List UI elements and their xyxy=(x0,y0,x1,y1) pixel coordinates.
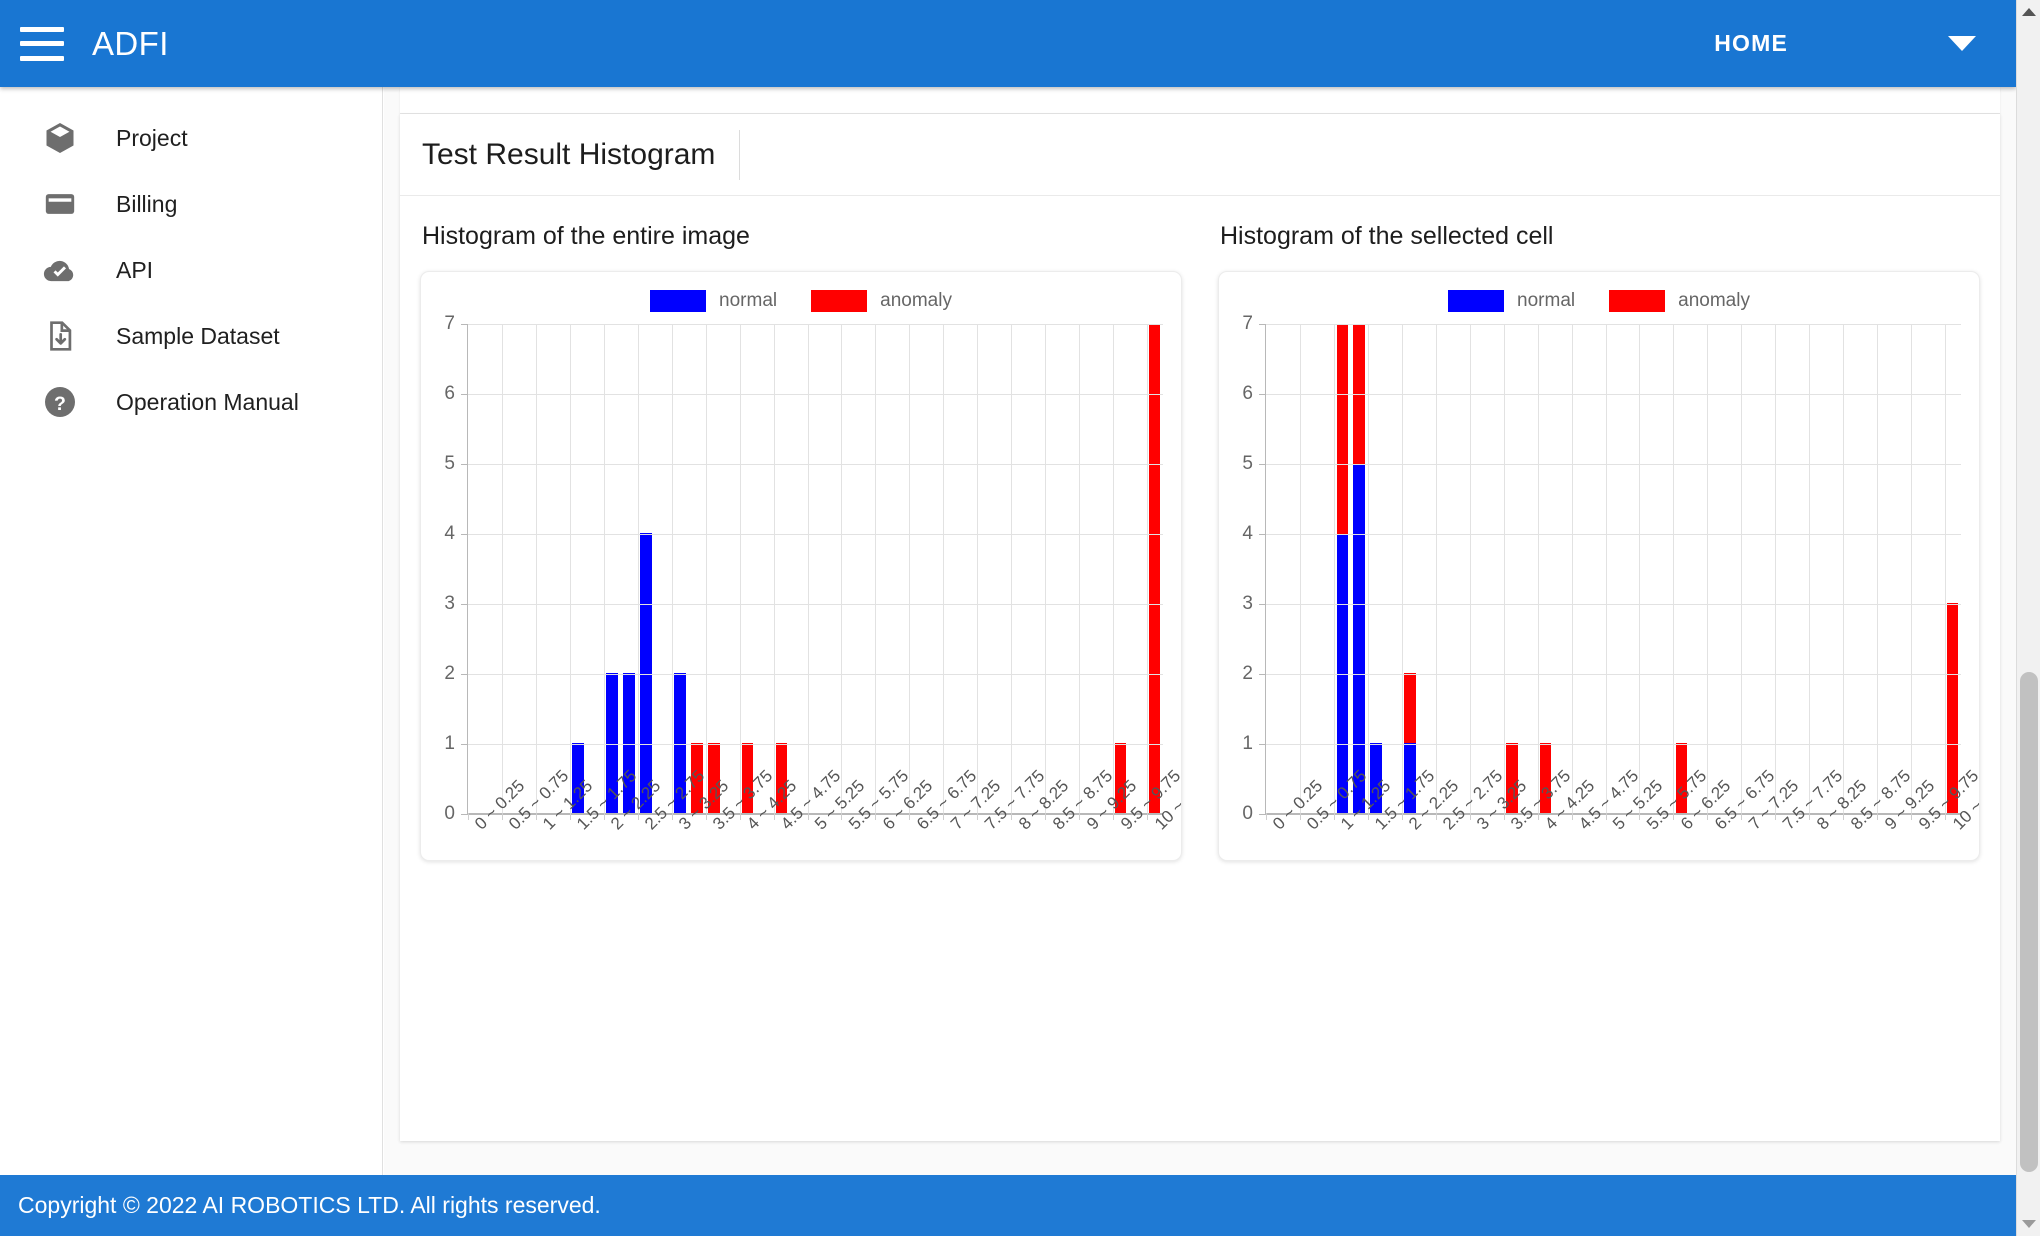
histogram-bin[interactable] xyxy=(1469,324,1486,813)
credit-card-icon xyxy=(38,182,82,226)
grid-line-vertical xyxy=(1741,324,1742,813)
histogram-bin[interactable] xyxy=(1656,324,1673,813)
y-axis-tick-label: 3 xyxy=(444,593,455,615)
grid-line-vertical xyxy=(1147,324,1148,813)
sidebar: Project Billing API Sample Datas xyxy=(0,87,383,1175)
app-header: ADFI HOME xyxy=(0,0,2016,87)
histogram-bin[interactable] xyxy=(705,324,722,813)
histogram-bin[interactable] xyxy=(688,324,705,813)
hamburger-bar xyxy=(20,41,64,46)
y-axis-tick xyxy=(461,394,468,395)
legend-swatch-normal xyxy=(1448,290,1504,312)
y-axis-tick-label: 3 xyxy=(1242,593,1253,615)
grid-line-horizontal xyxy=(1266,324,1961,325)
grid-line-vertical xyxy=(536,324,537,813)
histogram-selected-cell[interactable]: normal anomaly 01234567 0 ~ 0.250.5 ~ 0.… xyxy=(1218,271,1980,861)
y-axis-tick xyxy=(461,534,468,535)
histogram-bin[interactable] xyxy=(1741,324,1758,813)
histogram-bin[interactable] xyxy=(756,324,773,813)
grid-line-horizontal xyxy=(1266,394,1961,395)
grid-line-horizontal xyxy=(468,604,1163,605)
y-axis-tick xyxy=(1259,674,1266,675)
histogram-bin[interactable] xyxy=(1112,324,1129,813)
legend-item-anomaly[interactable]: anomaly xyxy=(1609,290,1750,312)
cube-icon xyxy=(38,116,82,160)
page-title: Test Result Histogram xyxy=(422,138,715,172)
y-axis-tick xyxy=(461,604,468,605)
legend-label-normal: normal xyxy=(719,290,777,312)
histogram-bin[interactable] xyxy=(604,324,621,813)
grid-line-vertical xyxy=(1538,324,1539,813)
histogram-bin[interactable] xyxy=(1300,324,1317,813)
grid-line-vertical xyxy=(1113,324,1114,813)
grid-line-vertical xyxy=(1639,324,1640,813)
grid-line-vertical xyxy=(909,324,910,813)
x-axis-labels: 0 ~ 0.250.5 ~ 0.751 ~ 1.251.5 ~ 1.752 ~ … xyxy=(1265,816,1961,906)
histogram-bin[interactable] xyxy=(1944,324,1961,813)
histogram-bin[interactable] xyxy=(1129,324,1146,813)
legend-item-normal[interactable]: normal xyxy=(650,290,777,312)
histogram-bin[interactable] xyxy=(1317,324,1334,813)
bar-segment-anomaly xyxy=(1404,673,1416,743)
grid-line-horizontal xyxy=(468,464,1163,465)
histogram-bin[interactable] xyxy=(638,324,655,813)
y-axis-tick-label: 2 xyxy=(444,663,455,685)
sidebar-item-project[interactable]: Project xyxy=(0,105,382,171)
grid-line-vertical xyxy=(1673,324,1674,813)
grid-line-vertical xyxy=(1809,324,1810,813)
grid-line-vertical xyxy=(1843,324,1844,813)
charts-row: Histogram of the entire image normal ano… xyxy=(400,196,2000,861)
bar-segment-anomaly xyxy=(1337,324,1349,534)
histogram-bin[interactable] xyxy=(739,324,756,813)
histogram-bin[interactable] xyxy=(468,324,485,813)
sidebar-item-label: Operation Manual xyxy=(116,389,299,416)
y-axis-tick xyxy=(1259,604,1266,605)
grid-line-horizontal xyxy=(1266,604,1961,605)
histogram-bin[interactable] xyxy=(1825,324,1842,813)
bar-segment-normal xyxy=(640,533,652,813)
grid-line-vertical xyxy=(1436,324,1437,813)
legend-swatch-anomaly xyxy=(1609,290,1665,312)
test-result-histogram-panel: Test Result Histogram Histogram of the e… xyxy=(400,114,2000,1141)
plot-grid xyxy=(1265,324,1961,814)
histogram-bin[interactable] xyxy=(943,324,960,813)
histogram-bin[interactable] xyxy=(1486,324,1503,813)
grid-line-vertical xyxy=(1504,324,1505,813)
grid-line-horizontal xyxy=(468,534,1163,535)
y-axis-tick xyxy=(1259,464,1266,465)
y-axis-tick-label: 1 xyxy=(444,733,455,755)
sidebar-item-billing[interactable]: Billing xyxy=(0,171,382,237)
app-brand-title: ADFI xyxy=(92,25,169,63)
histogram-bin[interactable] xyxy=(519,324,536,813)
grid-line-vertical xyxy=(875,324,876,813)
title-divider xyxy=(739,130,740,180)
grid-line-vertical xyxy=(1045,324,1046,813)
y-axis-tick xyxy=(461,674,468,675)
grid-line-vertical xyxy=(1300,324,1301,813)
histogram-bin[interactable] xyxy=(892,324,909,813)
panel-header: Test Result Histogram xyxy=(400,114,2000,196)
chart-block-selected-cell: Histogram of the sellected cell normal a… xyxy=(1218,222,1980,861)
triangle-up-icon xyxy=(2022,8,2036,16)
y-axis-tick-label: 7 xyxy=(444,313,455,335)
y-axis-tick xyxy=(461,744,468,745)
histogram-bin[interactable] xyxy=(1809,324,1826,813)
caret-down-icon[interactable] xyxy=(1948,36,1976,51)
sidebar-item-operation-manual[interactable]: ? Operation Manual xyxy=(0,369,382,435)
histogram-bin[interactable] xyxy=(1605,324,1622,813)
grid-line-horizontal xyxy=(1266,674,1961,675)
histogram-bin[interactable] xyxy=(1690,324,1707,813)
y-axis-tick-label: 2 xyxy=(1242,663,1253,685)
grid-line-vertical xyxy=(1606,324,1607,813)
chart-block-entire-image: Histogram of the entire image normal ano… xyxy=(420,222,1182,861)
histogram-bin[interactable] xyxy=(1503,324,1520,813)
y-axis-tick-label: 5 xyxy=(1242,453,1253,475)
histogram-bin[interactable] xyxy=(824,324,841,813)
grid-line-horizontal xyxy=(1266,464,1961,465)
chart-legend: normal anomaly xyxy=(421,272,1181,314)
histogram-bin[interactable] xyxy=(1588,324,1605,813)
sidebar-item-label: Project xyxy=(116,125,188,152)
bar-segment-normal xyxy=(1353,464,1365,813)
grid-line-horizontal xyxy=(1266,744,1961,745)
scroll-up-button[interactable] xyxy=(2017,0,2040,24)
legend-item-normal[interactable]: normal xyxy=(1448,290,1575,312)
histogram-bin[interactable] xyxy=(1859,324,1876,813)
y-axis-labels: 01234567 xyxy=(1219,324,1259,814)
histogram-bin[interactable] xyxy=(1639,324,1656,813)
histogram-bin[interactable] xyxy=(1385,324,1402,813)
histogram-bin[interactable] xyxy=(570,324,587,813)
histogram-bin[interactable] xyxy=(621,324,638,813)
bar-segment-anomaly xyxy=(1149,324,1161,813)
grid-line-horizontal xyxy=(468,674,1163,675)
grid-line-vertical xyxy=(502,324,503,813)
grid-line-vertical xyxy=(977,324,978,813)
grid-line-vertical xyxy=(943,324,944,813)
histogram-bin[interactable] xyxy=(960,324,977,813)
histogram-bin[interactable] xyxy=(841,324,858,813)
histogram-bin[interactable] xyxy=(1452,324,1469,813)
histogram-bin[interactable] xyxy=(1842,324,1859,813)
grid-line-vertical xyxy=(1707,324,1708,813)
hamburger-menu-icon[interactable] xyxy=(20,27,64,61)
histogram-bin[interactable] xyxy=(977,324,994,813)
histogram-bin[interactable] xyxy=(485,324,502,813)
histogram-bin[interactable] xyxy=(1419,324,1436,813)
grid-line-vertical xyxy=(1079,324,1080,813)
histogram-bin[interactable] xyxy=(1061,324,1078,813)
help-circle-icon: ? xyxy=(38,380,82,424)
legend-label-normal: normal xyxy=(1517,290,1575,312)
y-axis-tick xyxy=(461,814,468,815)
y-axis-tick-label: 6 xyxy=(444,383,455,405)
sidebar-item-api[interactable]: API xyxy=(0,237,382,303)
grid-line-vertical xyxy=(808,324,809,813)
y-axis-tick xyxy=(1259,814,1266,815)
y-axis-tick-label: 6 xyxy=(1242,383,1253,405)
histogram-bin[interactable] xyxy=(790,324,807,813)
histogram-bin[interactable] xyxy=(1027,324,1044,813)
legend-label-anomaly: anomaly xyxy=(880,290,952,312)
file-download-icon xyxy=(38,314,82,358)
grid-line-vertical xyxy=(740,324,741,813)
previous-card-bottom-edge xyxy=(400,87,2000,114)
y-axis-tick-label: 4 xyxy=(1242,523,1253,545)
histogram-bin[interactable] xyxy=(1402,324,1419,813)
page-scrollbar[interactable] xyxy=(2016,0,2040,1236)
chart-caption: Histogram of the entire image xyxy=(420,222,1182,251)
triangle-down-icon xyxy=(2022,1220,2036,1228)
bar-series xyxy=(1266,324,1961,813)
legend-swatch-normal xyxy=(650,290,706,312)
histogram-bin[interactable] xyxy=(1146,324,1163,813)
svg-text:?: ? xyxy=(54,393,66,415)
main-content: Test Result Histogram Histogram of the e… xyxy=(384,87,2016,1175)
y-axis-tick-label: 0 xyxy=(444,803,455,825)
histogram-bin[interactable] xyxy=(1266,324,1283,813)
histogram-bin[interactable] xyxy=(502,324,519,813)
grid-line-vertical xyxy=(1368,324,1369,813)
histogram-bin[interactable] xyxy=(1792,324,1809,813)
x-axis-labels: 0 ~ 0.250.5 ~ 0.751 ~ 1.251.5 ~ 1.752 ~ … xyxy=(467,816,1163,906)
legend-swatch-anomaly xyxy=(811,290,867,312)
y-axis-tick-label: 0 xyxy=(1242,803,1253,825)
y-axis-tick xyxy=(1259,744,1266,745)
histogram-bin[interactable] xyxy=(1044,324,1061,813)
hamburger-bar xyxy=(20,27,64,32)
histogram-bin[interactable] xyxy=(1571,324,1588,813)
sidebar-item-label: API xyxy=(116,257,153,284)
grid-line-vertical xyxy=(604,324,605,813)
grid-line-horizontal xyxy=(468,394,1163,395)
histogram-bin[interactable] xyxy=(1436,324,1453,813)
scrollbar-thumb[interactable] xyxy=(2020,672,2038,1172)
y-axis-tick xyxy=(1259,534,1266,535)
bar-series xyxy=(468,324,1163,813)
sidebar-item-sample-dataset[interactable]: Sample Dataset xyxy=(0,303,382,369)
grid-line-vertical xyxy=(841,324,842,813)
y-axis-tick-label: 4 xyxy=(444,523,455,545)
grid-line-vertical xyxy=(1877,324,1878,813)
histogram-bin[interactable] xyxy=(671,324,688,813)
histogram-bin[interactable] xyxy=(1520,324,1537,813)
grid-line-horizontal xyxy=(1266,534,1961,535)
grid-line-vertical xyxy=(1011,324,1012,813)
histogram-bin[interactable] xyxy=(1910,324,1927,813)
histogram-bin[interactable] xyxy=(654,324,671,813)
y-axis-tick-label: 5 xyxy=(444,453,455,475)
grid-line-vertical xyxy=(1945,324,1946,813)
chart-caption: Histogram of the sellected cell xyxy=(1218,222,1980,251)
histogram-bin[interactable] xyxy=(1673,324,1690,813)
grid-line-vertical xyxy=(672,324,673,813)
grid-line-vertical xyxy=(1402,324,1403,813)
histogram-bin[interactable] xyxy=(1622,324,1639,813)
histogram-bin[interactable] xyxy=(994,324,1011,813)
histogram-bin[interactable] xyxy=(1724,324,1741,813)
histogram-bin[interactable] xyxy=(1368,324,1385,813)
y-axis-tick xyxy=(461,324,468,325)
chart-legend: normal anomaly xyxy=(1219,272,1979,314)
histogram-bin[interactable] xyxy=(536,324,553,813)
copyright-text: Copyright © 2022 AI ROBOTICS LTD. All ri… xyxy=(18,1192,601,1219)
histogram-bin[interactable] xyxy=(1537,324,1554,813)
histogram-bin[interactable] xyxy=(858,324,875,813)
y-axis-labels: 01234567 xyxy=(421,324,461,814)
grid-line-vertical xyxy=(1470,324,1471,813)
page-footer: Copyright © 2022 AI ROBOTICS LTD. All ri… xyxy=(0,1175,2016,1236)
hamburger-bar xyxy=(20,56,64,61)
grid-line-vertical xyxy=(570,324,571,813)
grid-line-vertical xyxy=(706,324,707,813)
histogram-bin[interactable] xyxy=(909,324,926,813)
plot-area: 01234567 0 ~ 0.250.5 ~ 0.751 ~ 1.251.5 ~… xyxy=(1219,314,1979,862)
histogram-bin[interactable] xyxy=(553,324,570,813)
histogram-bin[interactable] xyxy=(1283,324,1300,813)
histogram-bin[interactable] xyxy=(1554,324,1571,813)
home-nav-link[interactable]: HOME xyxy=(1714,30,1788,57)
y-axis-tick xyxy=(1259,324,1266,325)
plot-area: 01234567 0 ~ 0.250.5 ~ 0.751 ~ 1.251.5 ~… xyxy=(421,314,1181,862)
y-axis-tick-label: 7 xyxy=(1242,313,1253,335)
y-axis-tick xyxy=(1259,394,1266,395)
legend-item-anomaly[interactable]: anomaly xyxy=(811,290,952,312)
histogram-bin[interactable] xyxy=(1893,324,1910,813)
histogram-bin[interactable] xyxy=(1095,324,1112,813)
plot-grid xyxy=(467,324,1163,814)
sidebar-item-label: Billing xyxy=(116,191,177,218)
histogram-bin[interactable] xyxy=(1758,324,1775,813)
histogram-bin[interactable] xyxy=(773,324,790,813)
histogram-bin[interactable] xyxy=(1011,324,1028,813)
histogram-bin[interactable] xyxy=(587,324,604,813)
scroll-down-button[interactable] xyxy=(2017,1212,2040,1236)
histogram-bin[interactable] xyxy=(1078,324,1095,813)
y-axis-tick xyxy=(461,464,468,465)
histogram-bin[interactable] xyxy=(926,324,943,813)
histogram-bin[interactable] xyxy=(875,324,892,813)
grid-line-vertical xyxy=(1911,324,1912,813)
histogram-bin[interactable] xyxy=(1927,324,1944,813)
histogram-entire-image[interactable]: normal anomaly 01234567 0 ~ 0.250.5 ~ 0.… xyxy=(420,271,1182,861)
legend-label-anomaly: anomaly xyxy=(1678,290,1750,312)
grid-line-horizontal xyxy=(468,324,1163,325)
histogram-bin[interactable] xyxy=(1707,324,1724,813)
sidebar-item-label: Sample Dataset xyxy=(116,323,280,350)
grid-line-vertical xyxy=(1775,324,1776,813)
histogram-bin[interactable] xyxy=(722,324,739,813)
grid-line-vertical xyxy=(638,324,639,813)
histogram-bin[interactable] xyxy=(1775,324,1792,813)
header-actions: HOME xyxy=(1714,30,2016,57)
y-axis-tick-label: 1 xyxy=(1242,733,1253,755)
histogram-bin[interactable] xyxy=(1334,324,1351,813)
grid-line-horizontal xyxy=(468,744,1163,745)
histogram-bin[interactable] xyxy=(807,324,824,813)
histogram-bin[interactable] xyxy=(1351,324,1368,813)
histogram-bin[interactable] xyxy=(1876,324,1893,813)
cloud-check-icon xyxy=(38,248,82,292)
grid-line-vertical xyxy=(1334,324,1335,813)
grid-line-vertical xyxy=(1572,324,1573,813)
grid-line-vertical xyxy=(774,324,775,813)
